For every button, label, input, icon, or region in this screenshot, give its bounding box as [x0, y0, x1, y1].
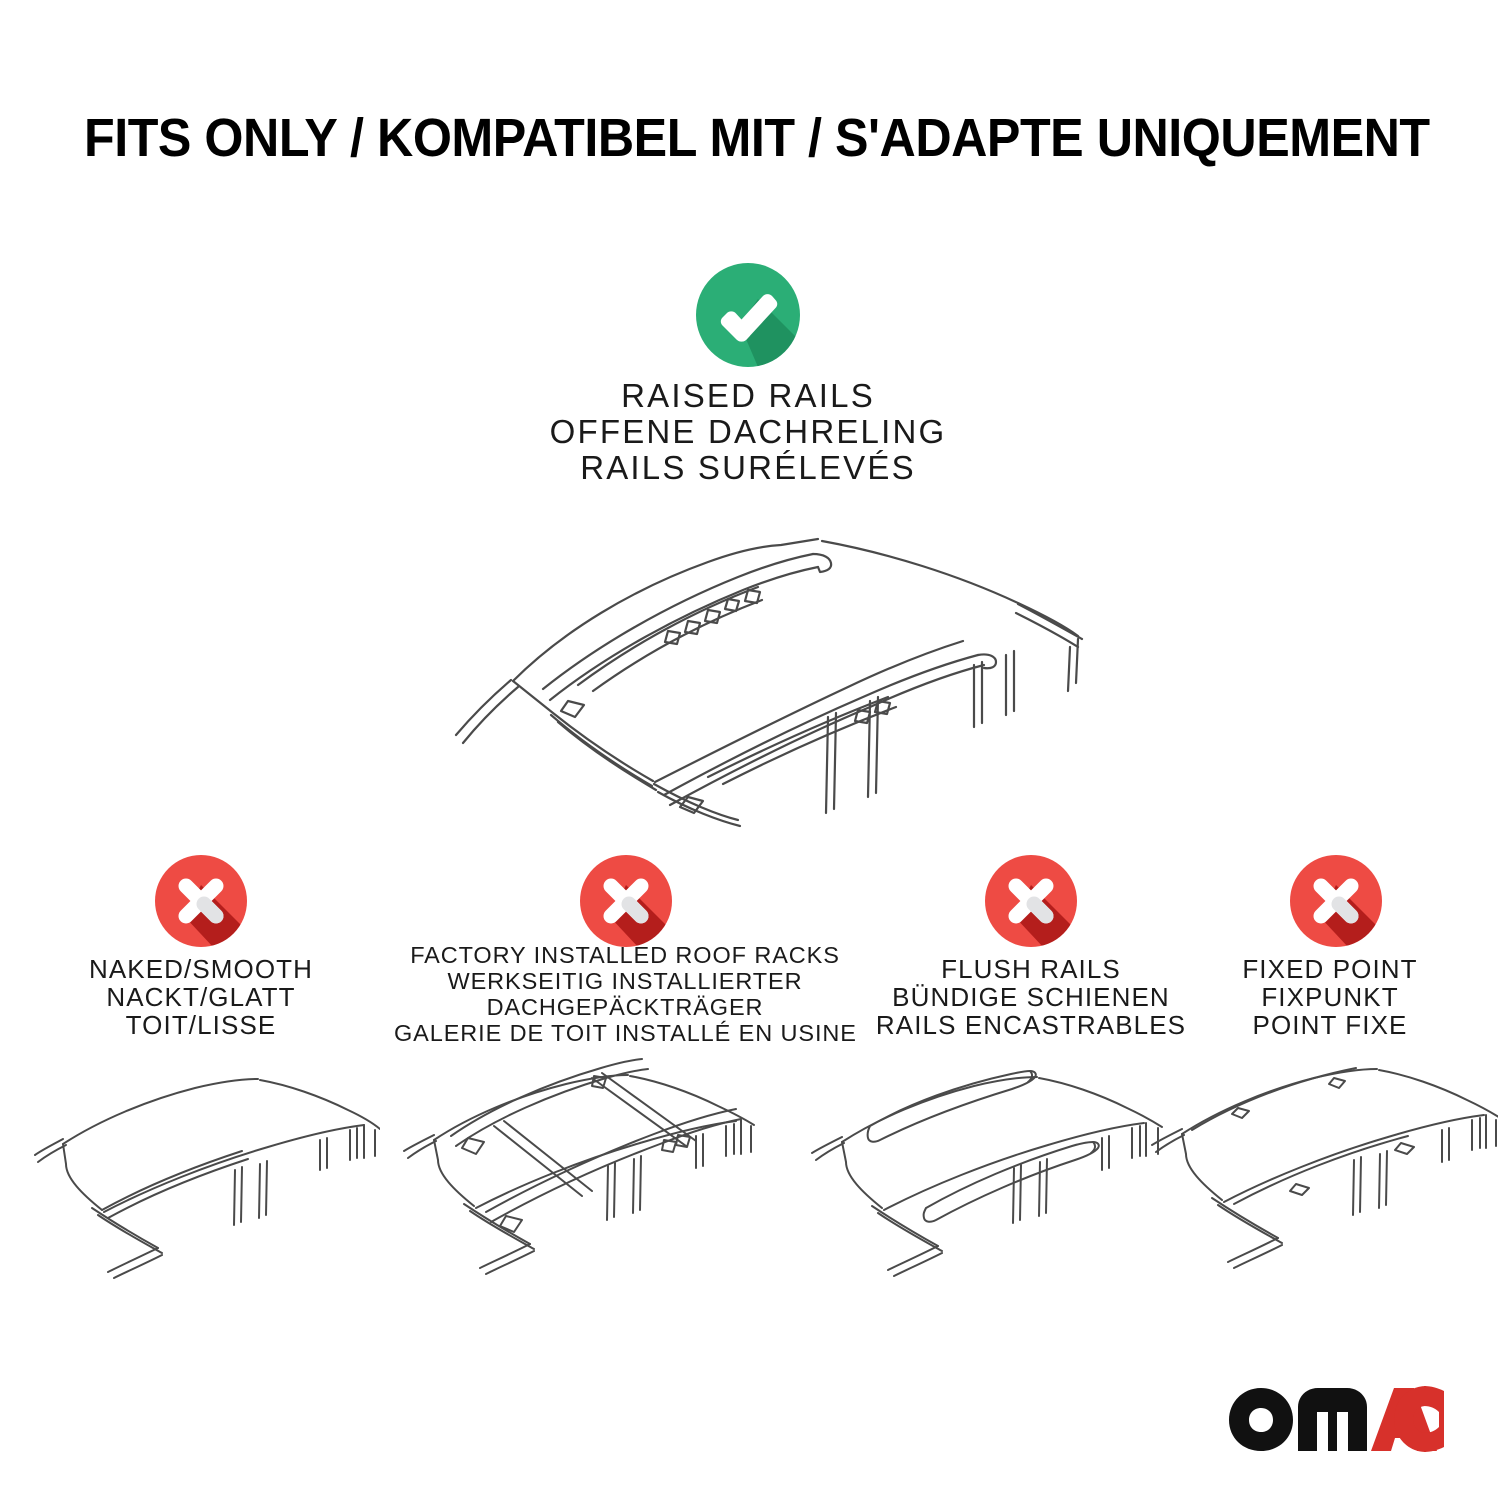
car-roof-fixed-point-illustration	[1146, 1058, 1498, 1293]
compatible-label: RAISED RAILS OFFENE DACHRELING RAILS SUR…	[448, 378, 1048, 486]
incompatible-3-line-3: RAILS ENCASTRABLES	[842, 1011, 1220, 1039]
incompatible-4-line-2: FIXPUNKT	[1170, 983, 1490, 1011]
incompatible-4-line-3: POINT FIXE	[1170, 1011, 1490, 1039]
car-roof-raised-rails-illustration	[418, 505, 1088, 835]
incompatible-2-line-3: DACHGEPÄCKTRÄGER	[394, 994, 856, 1020]
cross-circle-icon	[580, 855, 672, 947]
cross-glyph	[155, 855, 247, 947]
compatible-label-line-3: RAILS SURÉLEVÉS	[448, 450, 1048, 486]
fitment-compatibility-sheet: FITS ONLY / KOMPATIBEL MIT / S'ADAPTE UN…	[0, 0, 1500, 1500]
car-roof-flush-rails-illustration	[806, 1058, 1166, 1293]
check-glyph	[696, 263, 800, 367]
incompatible-label-4: FIXED POINT FIXPUNKT POINT FIXE	[1170, 955, 1490, 1039]
incompatible-1-line-3: TOIT/LISSE	[20, 1011, 382, 1039]
cross-circle-icon	[985, 855, 1077, 947]
check-circle-icon	[696, 263, 800, 367]
incompatible-1-line-2: NACKT/GLATT	[20, 983, 382, 1011]
incompatible-label-2: FACTORY INSTALLED ROOF RACKS WERKSEITIG …	[394, 942, 856, 1046]
omac-logo	[1228, 1386, 1444, 1452]
incompatible-2-line-4: GALERIE DE TOIT INSTALLÉ EN USINE	[394, 1020, 856, 1046]
incompatible-2-line-2: WERKSEITIG INSTALLIERTER	[394, 968, 856, 994]
cross-glyph	[985, 855, 1077, 947]
cross-circle-icon	[155, 855, 247, 947]
cross-glyph	[580, 855, 672, 947]
incompatible-label-3: FLUSH RAILS BÜNDIGE SCHIENEN RAILS ENCAS…	[842, 955, 1220, 1039]
car-roof-factory-racks-illustration	[396, 1058, 756, 1293]
car-roof-naked-smooth-illustration	[30, 1060, 380, 1290]
compatible-label-line-1: RAISED RAILS	[448, 378, 1048, 414]
incompatible-3-line-1: FLUSH RAILS	[842, 955, 1220, 983]
compatible-label-line-2: OFFENE DACHRELING	[448, 414, 1048, 450]
incompatible-1-line-1: NAKED/SMOOTH	[20, 955, 382, 983]
incompatible-label-1: NAKED/SMOOTH NACKT/GLATT TOIT/LISSE	[20, 955, 382, 1039]
cross-circle-icon	[1290, 855, 1382, 947]
incompatible-2-line-1: FACTORY INSTALLED ROOF RACKS	[394, 942, 856, 968]
omac-logo-mark	[1228, 1386, 1444, 1452]
cross-glyph	[1290, 855, 1382, 947]
incompatible-4-line-1: FIXED POINT	[1170, 955, 1490, 983]
incompatible-3-line-2: BÜNDIGE SCHIENEN	[842, 983, 1220, 1011]
page-title: FITS ONLY / KOMPATIBEL MIT / S'ADAPTE UN…	[84, 107, 1330, 169]
